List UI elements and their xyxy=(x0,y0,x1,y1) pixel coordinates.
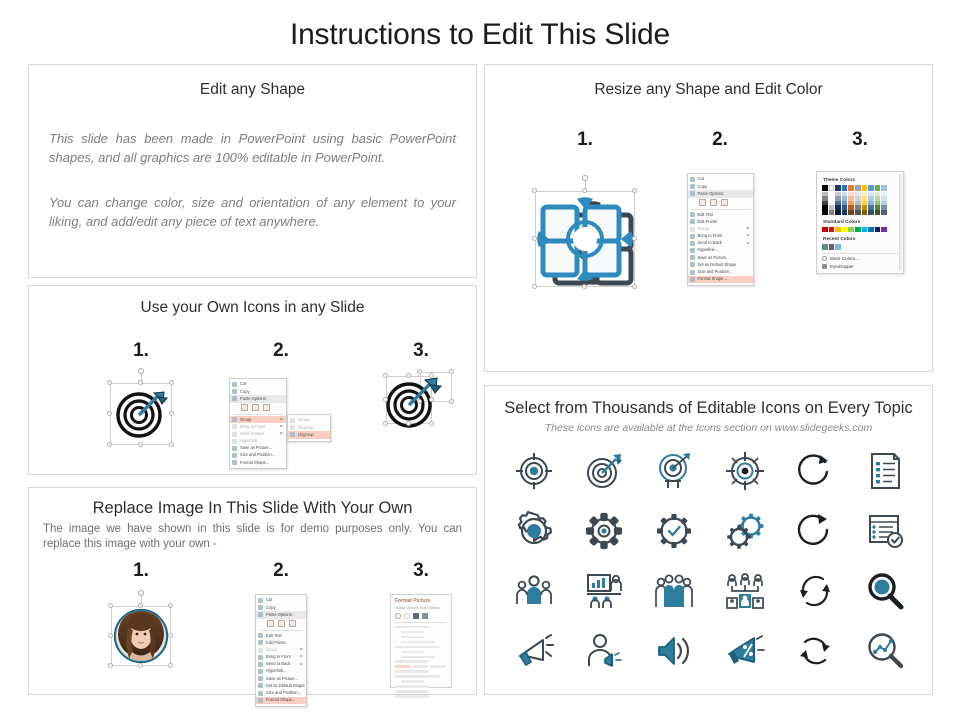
context-menu-item[interactable]: Hyperlink... xyxy=(230,438,286,445)
recent-colors-row[interactable] xyxy=(822,244,898,250)
context-menu-item[interactable]: Edit Points xyxy=(256,639,306,646)
own-icons-step-3: 3. xyxy=(361,340,481,450)
paste-options-row[interactable] xyxy=(256,619,306,629)
resize-handle-w[interactable] xyxy=(532,236,537,241)
size-tool-icon[interactable] xyxy=(413,613,419,619)
resize-handle-n[interactable] xyxy=(138,603,143,608)
context-menu-item[interactable]: Set as Default Shape xyxy=(256,682,306,689)
theme-color-column xyxy=(881,192,887,215)
menu-item-icon xyxy=(290,432,295,437)
arrow-handle-se[interactable] xyxy=(449,399,454,404)
color-swatch[interactable] xyxy=(835,185,841,191)
menu-item-icon xyxy=(232,460,237,465)
context-menu-shape: CutCopyPaste Options:Edit TextEdit Point… xyxy=(650,173,790,286)
context-menu-item[interactable]: Save as Picture... xyxy=(256,675,306,682)
people-group-icon[interactable] xyxy=(651,568,697,614)
pane-cell[interactable] xyxy=(430,665,446,667)
menu-item-label: Save as Picture... xyxy=(266,677,298,681)
refresh-arrow-icon[interactable] xyxy=(792,448,838,494)
context-menu-item[interactable]: Edit Text xyxy=(256,632,306,639)
presentation-board-icon[interactable] xyxy=(581,568,627,614)
menu-item-icon xyxy=(258,691,263,696)
context-menu-item[interactable]: Save as Picture... xyxy=(688,254,753,261)
menu-item-icon xyxy=(690,241,695,246)
color-swatch[interactable] xyxy=(881,210,887,215)
pane-row xyxy=(395,685,429,687)
menu-item-icon xyxy=(690,191,695,196)
resize-handle-se[interactable] xyxy=(632,284,637,289)
menu-item-label: Send to Back xyxy=(266,662,290,666)
resize-handle-w[interactable] xyxy=(108,633,113,638)
context-menu[interactable]: CutCopyPaste Options:Edit TextEdit Point… xyxy=(687,173,754,286)
color-swatch[interactable] xyxy=(862,185,868,191)
paste-options-row[interactable] xyxy=(688,198,753,208)
page-title: Instructions to Edit This Slide xyxy=(0,18,960,52)
pane-row xyxy=(401,636,424,638)
context-menu-item[interactable]: Format Shape... xyxy=(256,697,306,704)
color-swatch[interactable] xyxy=(868,210,874,215)
step-number: 1. xyxy=(81,560,201,582)
rotate-arrows-icon[interactable] xyxy=(792,628,838,674)
menu-item-icon xyxy=(690,184,695,189)
megaphone-percent-icon[interactable] xyxy=(722,628,768,674)
resize-handle-e[interactable] xyxy=(429,397,434,402)
gear-check-icon[interactable] xyxy=(651,508,697,554)
sync-arrows-icon[interactable] xyxy=(792,568,838,614)
paste-option-icon[interactable] xyxy=(252,404,259,411)
color-swatch[interactable] xyxy=(855,227,861,233)
step-number: 2. xyxy=(650,129,790,151)
step-number: 3. xyxy=(361,340,481,362)
resize-handle-e[interactable] xyxy=(168,633,173,638)
fill-tool-icon[interactable] xyxy=(395,613,401,619)
menu-item-label: Edit Points xyxy=(698,220,718,224)
menu-item-label: Size and Position... xyxy=(240,453,275,457)
edit-shape-paragraph-1: This slide has been made in PowerPoint u… xyxy=(49,129,456,167)
context-menu-item[interactable]: Save as Picture... xyxy=(230,445,286,452)
context-menu-item[interactable]: Format Shape... xyxy=(688,276,753,283)
context-menu[interactable]: CutCopyPaste Options:Edit TextEdit Point… xyxy=(255,594,307,707)
paste-option-icon[interactable] xyxy=(710,199,717,206)
step-number: 2. xyxy=(221,560,341,582)
format-picture-pane: Format Picture Shape Options Text Option… xyxy=(361,588,481,688)
menu-item-label: Group xyxy=(240,418,251,422)
menu-item-label: Format Shape... xyxy=(698,277,727,281)
paste-option-icon[interactable] xyxy=(241,404,248,411)
context-menu-item[interactable]: Edit Text xyxy=(688,211,753,218)
team-group-icon[interactable] xyxy=(511,568,557,614)
menu-item-icon xyxy=(232,432,237,437)
menu-item-icon xyxy=(258,605,263,610)
gear-filled-icon[interactable] xyxy=(511,508,557,554)
menu-item-icon xyxy=(290,418,295,423)
resize-handle-ne[interactable] xyxy=(169,380,174,385)
panel-title-resize-shape: Resize any Shape and Edit Color xyxy=(485,81,932,99)
step-number: 3. xyxy=(790,129,930,151)
paste-options-row[interactable] xyxy=(230,403,286,413)
divider xyxy=(233,414,283,415)
standard-colors-row[interactable] xyxy=(822,227,898,233)
resize-handle-n[interactable] xyxy=(138,380,143,385)
context-submenu-group[interactable]: GroupRegroupUngroup xyxy=(287,414,331,442)
icon-gallery xyxy=(499,448,920,674)
menu-item-icon xyxy=(690,262,695,267)
resize-handle-nw[interactable] xyxy=(383,373,388,378)
resize-handle-se[interactable] xyxy=(168,663,173,668)
more-colors-item[interactable]: More Colors... xyxy=(822,256,898,261)
menu-item-icon xyxy=(690,248,695,253)
color-swatch[interactable] xyxy=(842,185,848,191)
menu-item-label: Cut xyxy=(266,598,272,602)
shape-selected xyxy=(515,175,655,293)
context-menu-item[interactable]: Paste Options: xyxy=(256,611,306,618)
menu-item-icon xyxy=(258,669,263,674)
resize-handle-s[interactable] xyxy=(138,663,143,668)
context-menu-item[interactable]: Cut xyxy=(256,597,306,604)
menu-item-label: Hyperlink... xyxy=(266,669,286,673)
paste-option-icon[interactable] xyxy=(721,199,728,206)
resize-step-2: 2. CutCopyPaste Options:Edit TextEdit Po… xyxy=(650,129,790,286)
context-menu-item[interactable]: Group▶ xyxy=(688,225,753,232)
menu-item-label: Edit Text xyxy=(266,634,282,638)
target-crosshair-icon[interactable] xyxy=(511,448,557,494)
menu-item-label: Paste Options: xyxy=(240,397,267,401)
menu-item-icon xyxy=(690,177,695,182)
theme-colors-tint-grid[interactable] xyxy=(822,192,898,215)
menu-item-label: Copy xyxy=(266,606,276,610)
menu-item-icon xyxy=(232,396,237,401)
step-number: 3. xyxy=(361,560,481,582)
menu-item-icon xyxy=(258,612,263,617)
menu-item-label: Cut xyxy=(698,177,704,181)
portrait-selected xyxy=(81,588,201,676)
context-menu-item[interactable]: Send to Back▶ xyxy=(230,430,286,437)
resize-handle-e[interactable] xyxy=(169,411,174,416)
pane-row xyxy=(395,675,440,677)
chevron-right-icon: ▶ xyxy=(300,663,303,667)
more-colors-label: More Colors... xyxy=(830,256,859,261)
color-swatch[interactable] xyxy=(862,227,868,233)
palette-scrollbar[interactable] xyxy=(899,174,902,271)
color-swatch[interactable] xyxy=(835,244,841,250)
circular-arrow-icon[interactable] xyxy=(792,508,838,554)
context-menu-item[interactable]: Copy xyxy=(230,388,286,395)
speaker-volume-icon[interactable] xyxy=(651,628,697,674)
double-gear-icon[interactable] xyxy=(722,508,768,554)
context-menu[interactable]: CutCopyPaste Options:Group▶Bring to Fron… xyxy=(229,378,287,469)
replace-image-step-3: 3. Format Picture Shape Options Text Opt… xyxy=(361,560,481,688)
pane-row xyxy=(401,680,424,682)
resize-handle-sw[interactable] xyxy=(532,284,537,289)
theme-color-column xyxy=(855,192,861,215)
eyedropper-icon xyxy=(822,264,827,269)
paste-option-icon[interactable] xyxy=(289,620,296,627)
context-menu-item[interactable]: Regroup xyxy=(288,424,330,431)
color-swatch[interactable] xyxy=(822,227,828,233)
context-menu-item[interactable]: Group xyxy=(288,417,330,424)
person-megaphone-icon[interactable] xyxy=(581,628,627,674)
menu-item-icon xyxy=(690,227,695,232)
menu-item-icon xyxy=(258,655,263,660)
panel-title-replace-image: Replace Image In This Slide With Your Ow… xyxy=(29,499,476,518)
chevron-right-icon: ▶ xyxy=(280,432,283,436)
menu-item-icon xyxy=(690,234,695,239)
resize-handle-n[interactable] xyxy=(582,188,587,193)
color-swatch[interactable] xyxy=(875,210,881,215)
menu-item-icon xyxy=(258,640,263,645)
picture-tool-icon[interactable] xyxy=(422,613,428,619)
menu-item-label: Set as Default Shape xyxy=(698,263,737,267)
color-palette: Theme Colors Standard Colors Recent Colo… xyxy=(790,171,930,274)
dartboard-arrow-graphic xyxy=(376,368,466,450)
context-menu-item[interactable]: Ungroup xyxy=(288,431,330,438)
slide-canvas: Instructions to Edit This Slide Edit any… xyxy=(0,0,960,720)
menu-item-label: Save as Picture... xyxy=(698,256,730,260)
menu-item-icon xyxy=(690,212,695,217)
context-menu-group: CutCopyPaste Options:Group▶Bring to Fron… xyxy=(221,368,341,460)
context-menu-item[interactable]: Bring to Front▶ xyxy=(230,423,286,430)
pane-row xyxy=(401,656,435,658)
menu-item-label: Regroup xyxy=(298,426,314,430)
resize-handle-nw[interactable] xyxy=(532,188,537,193)
color-swatch[interactable] xyxy=(829,244,835,250)
panel-editable-icons: Select from Thousands of Editable Icons … xyxy=(484,385,933,695)
context-menu-item[interactable]: Cut xyxy=(230,381,286,388)
step-number: 1. xyxy=(515,129,655,151)
resize-handle-sw[interactable] xyxy=(383,421,388,426)
standard-colors-label: Standard Colors xyxy=(823,220,898,225)
target-stand-icon[interactable] xyxy=(651,448,697,494)
eyedropper-item[interactable]: Eyedropper xyxy=(822,264,898,269)
resize-handle-se[interactable] xyxy=(169,442,174,447)
chevron-right-icon: ▶ xyxy=(747,242,750,246)
menu-item-icon xyxy=(232,439,237,444)
color-swatch[interactable] xyxy=(822,244,828,250)
theme-color-column xyxy=(842,192,848,215)
arrow-handle-nw[interactable] xyxy=(417,369,422,374)
context-menu-item[interactable]: Send to Back▶ xyxy=(688,240,753,247)
panel-replace-image: Replace Image In This Slide With Your Ow… xyxy=(28,487,477,695)
context-menu-item[interactable]: Group▶ xyxy=(230,416,286,423)
panel-use-own-icons: Use your Own Icons in any Slide 1. xyxy=(28,285,477,475)
resize-handle-ne[interactable] xyxy=(168,603,173,608)
menu-item-icon xyxy=(258,662,263,667)
divider xyxy=(259,630,303,631)
own-icons-step-1: 1. xyxy=(81,340,201,452)
context-menu-item[interactable]: Bring to Front▶ xyxy=(256,654,306,661)
menu-item-label: Send to Back xyxy=(240,432,264,436)
menu-item-icon xyxy=(232,453,237,458)
color-swatch[interactable] xyxy=(881,227,887,233)
team-network-icon[interactable] xyxy=(722,568,768,614)
panel-resize-shape: Resize any Shape and Edit Color 1. xyxy=(484,64,933,372)
context-menu-item[interactable]: Cut xyxy=(688,176,753,183)
resize-handle-s[interactable] xyxy=(138,442,143,447)
menu-item-label: Hyperlink... xyxy=(698,248,718,252)
context-menu-item[interactable]: Set as Default Shape xyxy=(688,261,753,268)
menu-item-icon xyxy=(690,270,695,275)
replace-image-subtitle: The image we have shown in this slide is… xyxy=(43,522,462,552)
resize-handle-w[interactable] xyxy=(107,411,112,416)
menu-item-icon xyxy=(232,446,237,451)
color-swatch[interactable] xyxy=(868,185,874,191)
color-swatch[interactable] xyxy=(829,227,835,233)
menu-item-icon xyxy=(258,648,263,653)
pane-cell[interactable] xyxy=(395,665,411,667)
pane-row xyxy=(395,646,440,648)
menu-item-label: Hyperlink... xyxy=(240,439,260,443)
color-swatch[interactable] xyxy=(855,210,861,215)
resize-handle-nw[interactable] xyxy=(107,380,112,385)
menu-item-label: Paste Options: xyxy=(698,192,725,196)
color-swatch[interactable] xyxy=(881,185,887,191)
pane-row xyxy=(395,660,429,662)
context-menu-item[interactable]: Hyperlink... xyxy=(688,247,753,254)
pane-row xyxy=(395,690,429,692)
context-menu-picture: CutCopyPaste Options:Edit TextEdit Point… xyxy=(221,588,341,707)
color-picker-panel[interactable]: Theme Colors Standard Colors Recent Colo… xyxy=(816,171,904,274)
menu-item-icon xyxy=(232,389,237,394)
color-swatch[interactable] xyxy=(848,227,854,233)
step-number: 2. xyxy=(221,340,341,362)
edit-shape-paragraph-2: You can change color, size and orientati… xyxy=(49,193,456,231)
context-menu-item[interactable]: Bring to Front▶ xyxy=(688,233,753,240)
context-menu-item[interactable]: Group▶ xyxy=(256,646,306,653)
resize-handle-sw[interactable] xyxy=(108,663,113,668)
chevron-right-icon: ▶ xyxy=(280,418,283,422)
pane-cell[interactable] xyxy=(413,665,429,667)
theme-color-column xyxy=(848,192,854,215)
chevron-right-icon: ▶ xyxy=(300,655,303,659)
magnifier-chart-icon[interactable] xyxy=(862,628,908,674)
menu-item-icon xyxy=(290,425,295,430)
recent-colors-label: Recent Colors xyxy=(823,237,898,242)
color-swatch[interactable] xyxy=(829,185,835,191)
context-menu-item[interactable]: Hyperlink... xyxy=(256,668,306,675)
context-menu-item[interactable]: Send to Back▶ xyxy=(256,661,306,668)
format-pane-tabs[interactable]: Shape Options Text Options xyxy=(395,606,447,610)
context-menu-item[interactable]: Paste Options: xyxy=(230,395,286,402)
arrow-handle-ne[interactable] xyxy=(449,369,454,374)
menu-item-label: Group xyxy=(698,227,709,231)
menu-item-label: Copy xyxy=(240,390,250,394)
resize-step-3: 3. Theme Colors Standard Colors Recent C… xyxy=(790,129,930,274)
menu-item-icon xyxy=(232,417,237,422)
theme-colors-base-row[interactable] xyxy=(822,185,898,191)
color-swatch[interactable] xyxy=(842,227,848,233)
context-menu-item[interactable]: Size and Position... xyxy=(256,690,306,697)
context-menu-item[interactable]: Paste Options: xyxy=(688,190,753,197)
panel-edit-any-shape: Edit any Shape This slide has been made … xyxy=(28,64,477,278)
context-menu-item[interactable]: Copy xyxy=(688,183,753,190)
menu-item-icon xyxy=(258,676,263,681)
resize-handle-sw[interactable] xyxy=(107,442,112,447)
panel-title-own-icons: Use your Own Icons in any Slide xyxy=(29,299,476,317)
menu-item-label: Edit Text xyxy=(698,213,714,217)
arrow-handle-sw[interactable] xyxy=(417,399,422,404)
menu-item-label: Paste Options: xyxy=(266,613,293,617)
resize-handle-nw[interactable] xyxy=(108,603,113,608)
resize-handle-n[interactable] xyxy=(406,373,411,378)
magnifier-icon[interactable] xyxy=(862,568,908,614)
resize-handle-w[interactable] xyxy=(383,397,388,402)
color-swatch[interactable] xyxy=(848,185,854,191)
color-swatch[interactable] xyxy=(862,210,868,215)
color-swatch[interactable] xyxy=(868,227,874,233)
menu-item-icon xyxy=(232,424,237,429)
color-swatch[interactable] xyxy=(842,210,848,215)
resize-handle-ne[interactable] xyxy=(632,188,637,193)
menu-item-icon xyxy=(690,255,695,260)
dartboard-arrow-icon[interactable] xyxy=(581,448,627,494)
divider xyxy=(691,209,750,210)
pane-row xyxy=(401,631,424,633)
theme-colors-label: Theme Colors xyxy=(823,178,898,183)
context-menu-item[interactable]: Format Shape... xyxy=(230,459,286,466)
menu-item-icon xyxy=(258,683,263,688)
menu-item-icon xyxy=(690,219,695,224)
color-swatch[interactable] xyxy=(855,185,861,191)
color-swatch[interactable] xyxy=(835,210,841,215)
divider xyxy=(395,622,447,623)
theme-color-column xyxy=(822,192,828,215)
color-swatch[interactable] xyxy=(829,210,835,215)
menu-item-label: Bring to Front xyxy=(266,655,291,659)
menu-item-label: Copy xyxy=(698,185,708,189)
pane-row xyxy=(395,695,429,697)
menu-item-label: Size and Position... xyxy=(698,270,733,274)
chevron-right-icon: ▶ xyxy=(280,425,283,429)
gear-icon[interactable] xyxy=(581,508,627,554)
resize-handle-s[interactable] xyxy=(582,284,587,289)
resize-handle-s[interactable] xyxy=(406,421,411,426)
checklist-verified-icon[interactable] xyxy=(862,508,908,554)
menu-item-label: Format Shape... xyxy=(240,461,269,465)
format-pane[interactable]: Format Picture Shape Options Text Option… xyxy=(390,594,452,688)
paste-option-icon[interactable] xyxy=(699,199,706,206)
context-menu-item[interactable]: Size and Position... xyxy=(688,269,753,276)
theme-color-column xyxy=(862,192,868,215)
menu-item-label: Group xyxy=(266,648,277,652)
color-swatch[interactable] xyxy=(875,227,881,233)
effects-tool-icon[interactable] xyxy=(404,613,410,619)
divider xyxy=(822,253,898,254)
context-menu-item[interactable]: Edit Points xyxy=(688,218,753,225)
color-swatch[interactable] xyxy=(875,185,881,191)
paste-option-icon[interactable] xyxy=(267,620,274,627)
checklist-document-icon[interactable] xyxy=(862,448,908,494)
resize-handle-ne[interactable] xyxy=(429,373,434,378)
context-menu-item[interactable]: Copy xyxy=(256,604,306,611)
menu-item-label: Save as Picture... xyxy=(240,446,272,450)
color-swatch[interactable] xyxy=(835,227,841,233)
menu-item-label: Size and Position... xyxy=(266,691,301,695)
resize-handle-se[interactable] xyxy=(429,421,434,426)
paste-option-icon[interactable] xyxy=(263,404,270,411)
chevron-right-icon: ▶ xyxy=(747,234,750,238)
paste-option-icon[interactable] xyxy=(278,620,285,627)
color-swatch[interactable] xyxy=(822,210,828,215)
menu-item-label: Bring to Front xyxy=(698,234,723,238)
menu-item-label: Ungroup xyxy=(298,433,314,437)
crosshair-target-icon[interactable] xyxy=(722,448,768,494)
color-swatch[interactable] xyxy=(822,185,828,191)
context-menu-item[interactable]: Size and Position... xyxy=(230,452,286,459)
megaphone-icon[interactable] xyxy=(511,628,557,674)
menu-item-label: Bring to Front xyxy=(240,425,265,429)
color-swatch[interactable] xyxy=(848,210,854,215)
resize-handle-e[interactable] xyxy=(632,236,637,241)
